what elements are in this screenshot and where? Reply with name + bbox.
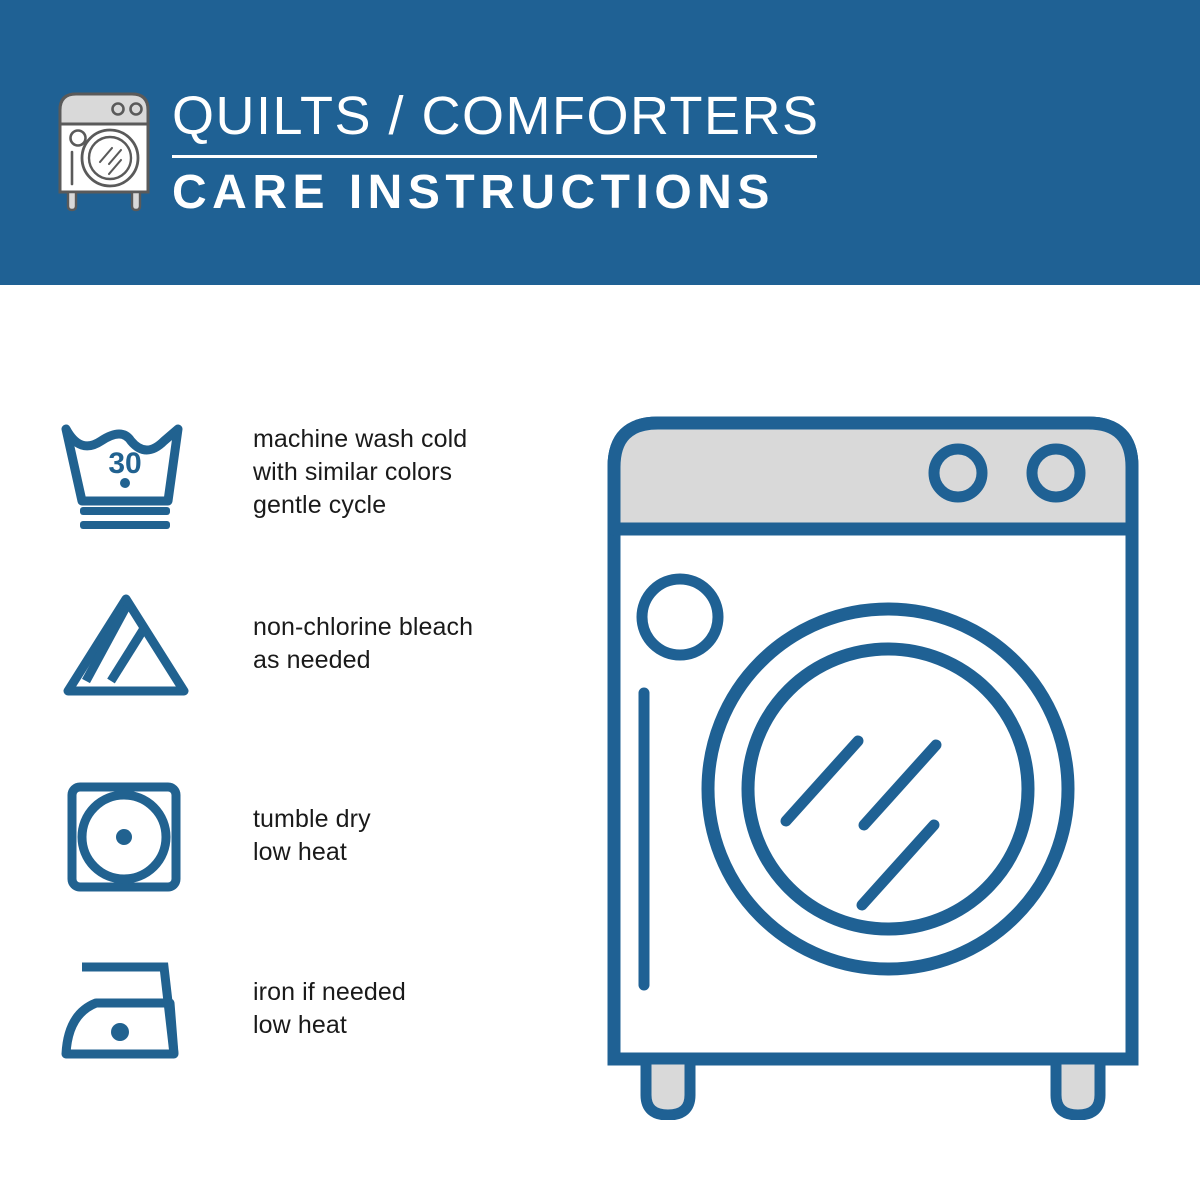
washing-machine-logo-icon (52, 82, 156, 212)
care-text-line: as needed (253, 644, 473, 677)
care-text-line: tumble dry (253, 803, 371, 836)
care-text-line: low heat (253, 1009, 406, 1042)
care-row-tumble-dry: tumble dry low heat (0, 775, 560, 895)
care-text-iron: iron if needed low heat (253, 976, 406, 1042)
care-text-bleach: non-chlorine bleach as needed (253, 611, 473, 677)
header-title-block: QUILTS / COMFORTERS CARE INSTRUCTIONS (172, 86, 822, 220)
washer-leg (1056, 1059, 1100, 1115)
care-text-line: with similar colors (253, 456, 467, 489)
care-text-wash: machine wash cold with similar colors ge… (253, 423, 467, 522)
care-instructions-page: QUILTS / COMFORTERS CARE INSTRUCTIONS 30… (0, 0, 1200, 1200)
bleach-triangle-icon (56, 585, 206, 705)
tumble-dry-icon (56, 775, 206, 895)
care-row-bleach: non-chlorine bleach as needed (0, 585, 560, 705)
care-text-line: iron if needed (253, 976, 406, 1009)
title-divider (172, 155, 817, 158)
care-row-iron: iron if needed low heat (0, 950, 560, 1070)
iron-icon (56, 950, 206, 1070)
page-header: QUILTS / COMFORTERS CARE INSTRUCTIONS (0, 0, 1200, 285)
wash-tub-icon: 30 (56, 415, 206, 535)
washing-machine-illustration (600, 405, 1160, 1120)
care-text-line: non-chlorine bleach (253, 611, 473, 644)
page-title-primary: QUILTS / COMFORTERS (172, 86, 822, 146)
care-text-tumble-dry: tumble dry low heat (253, 803, 371, 869)
care-text-line: low heat (253, 836, 371, 869)
care-text-line: gentle cycle (253, 489, 467, 522)
page-title-secondary: CARE INSTRUCTIONS (172, 166, 822, 220)
care-text-line: machine wash cold (253, 423, 467, 456)
wash-temperature-label: 30 (108, 447, 141, 480)
care-row-wash: 30 machine wash cold with similar colors… (0, 415, 560, 535)
washer-leg (646, 1059, 690, 1115)
